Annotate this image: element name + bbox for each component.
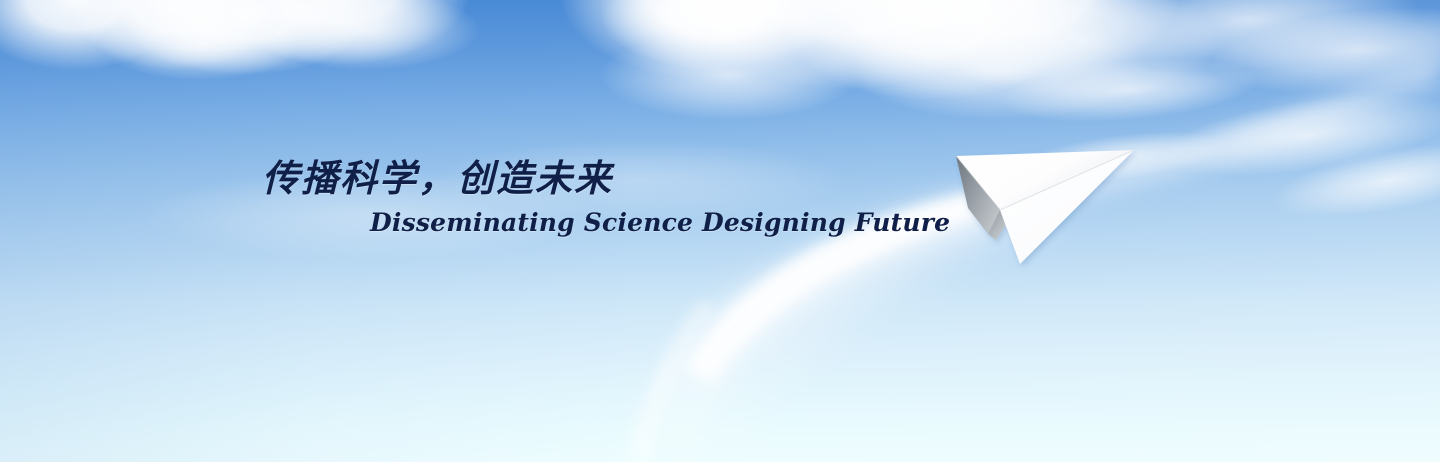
sky-banner: 传播科学，创造未来 Disseminating Science Designin… — [0, 0, 1440, 462]
sky-horizontal-shading — [0, 0, 1440, 462]
